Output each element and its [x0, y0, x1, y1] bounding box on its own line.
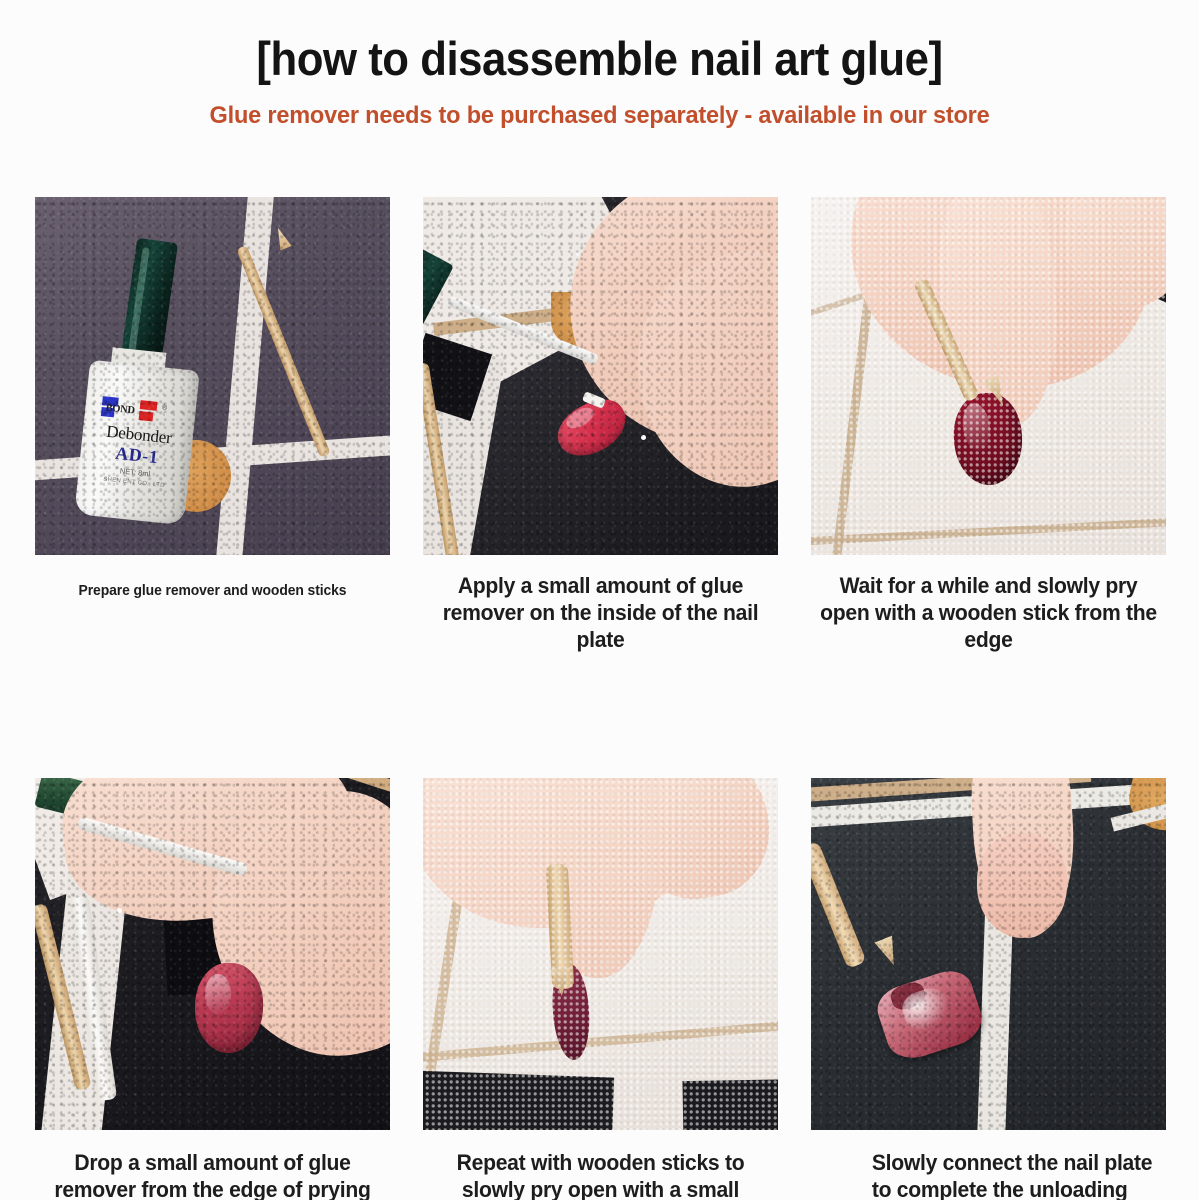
- steps-grid: BOND ® Debonder AD-1 NET: 8ml SHEN ENT C…: [35, 197, 1167, 1200]
- step-card-6: Slowly connect the nail plate to complet…: [811, 778, 1166, 1200]
- step-card-5: Repeat with wooden sticks to slowly pry …: [423, 778, 778, 1200]
- bottle-label: BOND ® Debonder AD-1 NET: 8ml SHEN ENT C…: [79, 390, 195, 518]
- fingertip: [977, 833, 1067, 938]
- page-header: [how to disassemble nail art glue] Glue …: [0, 0, 1199, 130]
- logo-block-red-top: [140, 400, 158, 411]
- page-title: [how to disassemble nail art glue]: [42, 32, 1157, 86]
- step-photo-4: [35, 778, 390, 1130]
- step-caption-5: Repeat with wooden sticks to slowly pry …: [430, 1130, 771, 1200]
- step-card-4: Drop a small amount of glue remover from…: [35, 778, 390, 1200]
- step-photo-5: [423, 778, 778, 1130]
- page-subtitle: Glue remover needs to be purchased separ…: [24, 102, 1175, 130]
- step-photo-6: [811, 778, 1166, 1130]
- step-card-1: BOND ® Debonder AD-1 NET: 8ml SHEN ENT C…: [35, 197, 390, 660]
- step-caption-6: Slowly connect the nail plate to complet…: [818, 1130, 1159, 1200]
- row-spacer-a: [35, 660, 390, 778]
- instruction-page: [how to disassemble nail art glue] Glue …: [0, 0, 1199, 1200]
- step-card-3: Wait for a while and slowly pry open wit…: [811, 197, 1166, 660]
- logo-block-red-bottom: [139, 411, 154, 421]
- dark-patch-left: [423, 1070, 614, 1130]
- sparkle-2: [576, 252, 580, 256]
- step-caption-1: Prepare glue remover and wooden sticks: [42, 555, 383, 660]
- step-photo-3: [811, 197, 1166, 555]
- dark-patch-right: [682, 1079, 778, 1130]
- registered-mark: ®: [162, 404, 168, 412]
- step-card-2: Apply a small amount of glue remover on …: [423, 197, 778, 660]
- nail-highlight: [205, 974, 231, 1014]
- step-caption-4: Drop a small amount of glue remover from…: [42, 1130, 383, 1200]
- sparkle-1: [641, 435, 646, 440]
- row-spacer-c: [811, 660, 1166, 778]
- step-photo-2: [423, 197, 778, 555]
- sparkle: [117, 908, 122, 913]
- step-caption-2: Apply a small amount of glue remover on …: [430, 555, 771, 660]
- row-spacer-b: [423, 660, 778, 778]
- step-caption-3: Wait for a while and slowly pry open wit…: [818, 555, 1159, 660]
- step-photo-1: BOND ® Debonder AD-1 NET: 8ml SHEN ENT C…: [35, 197, 390, 555]
